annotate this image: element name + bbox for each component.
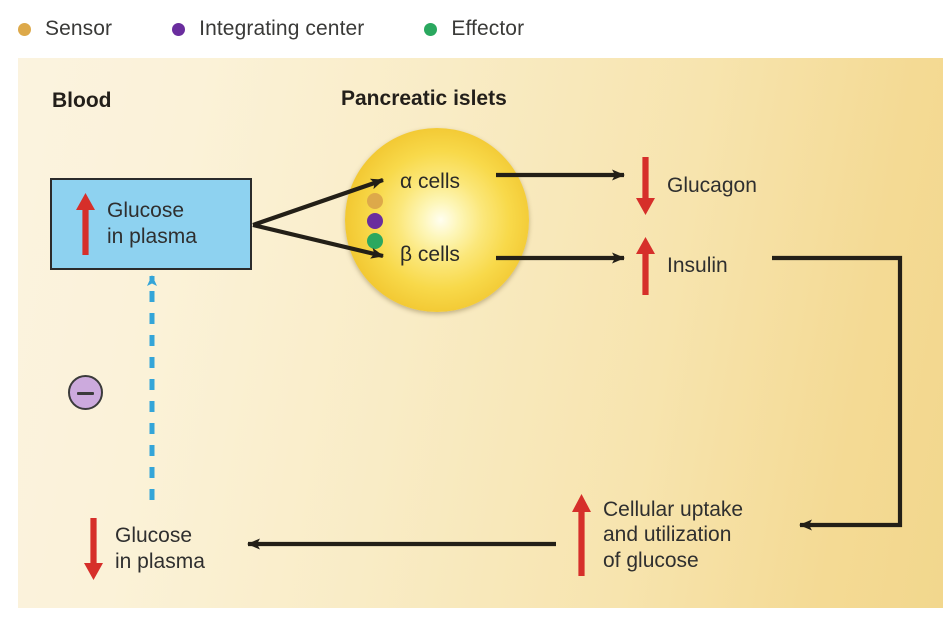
effector-dot-icon xyxy=(424,23,437,36)
cellular-uptake-line2: and utilization xyxy=(603,523,731,546)
down-arrow-icon xyxy=(636,157,655,215)
high-glucose-box: Glucose in plasma xyxy=(50,178,252,270)
glucagon-label: Glucagon xyxy=(667,174,757,198)
sensor-dot-icon xyxy=(18,23,31,36)
low-glucose-line2: in plasma xyxy=(115,550,205,573)
up-arrow-icon xyxy=(76,193,93,255)
low-glucose-line1: Glucose xyxy=(115,524,192,547)
heading-blood: Blood xyxy=(52,89,111,113)
up-arrow-icon xyxy=(572,494,591,576)
legend: Sensor Integrating center Effector xyxy=(0,0,943,58)
legend-label-integrating-center: Integrating center xyxy=(199,17,364,41)
integrating-center-dot-icon xyxy=(172,23,185,36)
cellular-uptake-line1: Cellular uptake xyxy=(603,498,743,521)
insulin-output: Insulin xyxy=(636,237,728,295)
legend-item-effector: Effector xyxy=(424,17,524,41)
down-arrow-icon xyxy=(84,518,103,580)
islet-sensor-dot-icon xyxy=(367,193,383,209)
islet-effector-dot-icon xyxy=(367,233,383,249)
cellular-uptake-line3: of glucose xyxy=(603,549,699,572)
beta-cells-label: β cells xyxy=(400,243,460,267)
high-glucose-line2: in plasma xyxy=(107,225,197,248)
low-glucose-text: Glucose in plasma xyxy=(115,523,205,574)
high-glucose-text: Glucose in plasma xyxy=(107,198,197,249)
legend-item-sensor: Sensor xyxy=(18,17,112,41)
minus-circle-icon xyxy=(68,375,103,410)
diagram-root: Sensor Integrating center Effector Blood… xyxy=(0,0,943,628)
legend-item-integrating-center: Integrating center xyxy=(172,17,364,41)
insulin-label: Insulin xyxy=(667,254,728,278)
islet-integrating-center-dot-icon xyxy=(367,213,383,229)
glucagon-output: Glucagon xyxy=(636,157,757,215)
up-arrow-icon xyxy=(636,237,655,295)
legend-label-sensor: Sensor xyxy=(45,17,112,41)
legend-label-effector: Effector xyxy=(451,17,524,41)
cellular-uptake-text: Cellular uptake and utilization of gluco… xyxy=(603,497,743,574)
alpha-cells-label: α cells xyxy=(400,170,460,194)
high-glucose-line1: Glucose xyxy=(107,199,184,222)
heading-pancreatic-islets: Pancreatic islets xyxy=(341,87,507,111)
cellular-uptake-output: Cellular uptake and utilization of gluco… xyxy=(572,494,743,576)
low-glucose-output: Glucose in plasma xyxy=(84,518,205,580)
